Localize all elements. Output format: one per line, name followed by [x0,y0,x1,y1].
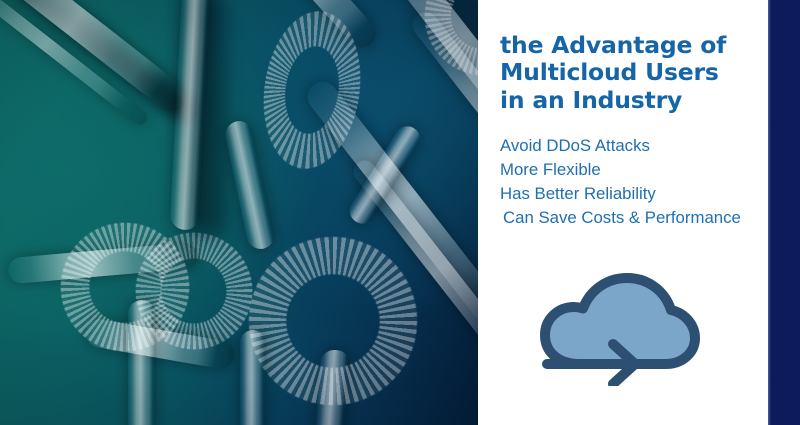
list-item: Has Better Reliability [500,182,768,206]
list-item: Avoid DDoS Attacks [500,134,768,158]
accent-strip-highlight [768,0,771,425]
page-title: the Advantage of Multicloud Users in an … [500,32,756,114]
list-item: More Flexible [500,158,768,182]
photo-vignette [0,0,478,425]
benefits-list: Avoid DDoS Attacks More Flexible Has Bet… [500,134,768,229]
headline-line-3: in an Industry [500,87,756,114]
headline-line-2: Multicloud Users [500,59,756,86]
multicloud-advantage-banner: the Advantage of Multicloud Users in an … [0,0,800,425]
bendy-straws-photo [0,0,478,425]
accent-strip [768,0,800,425]
headline-line-1: the Advantage of [500,32,756,59]
cloud-with-right-arrow-icon [535,268,703,386]
list-item: Can Save Costs & Performance [500,206,768,230]
